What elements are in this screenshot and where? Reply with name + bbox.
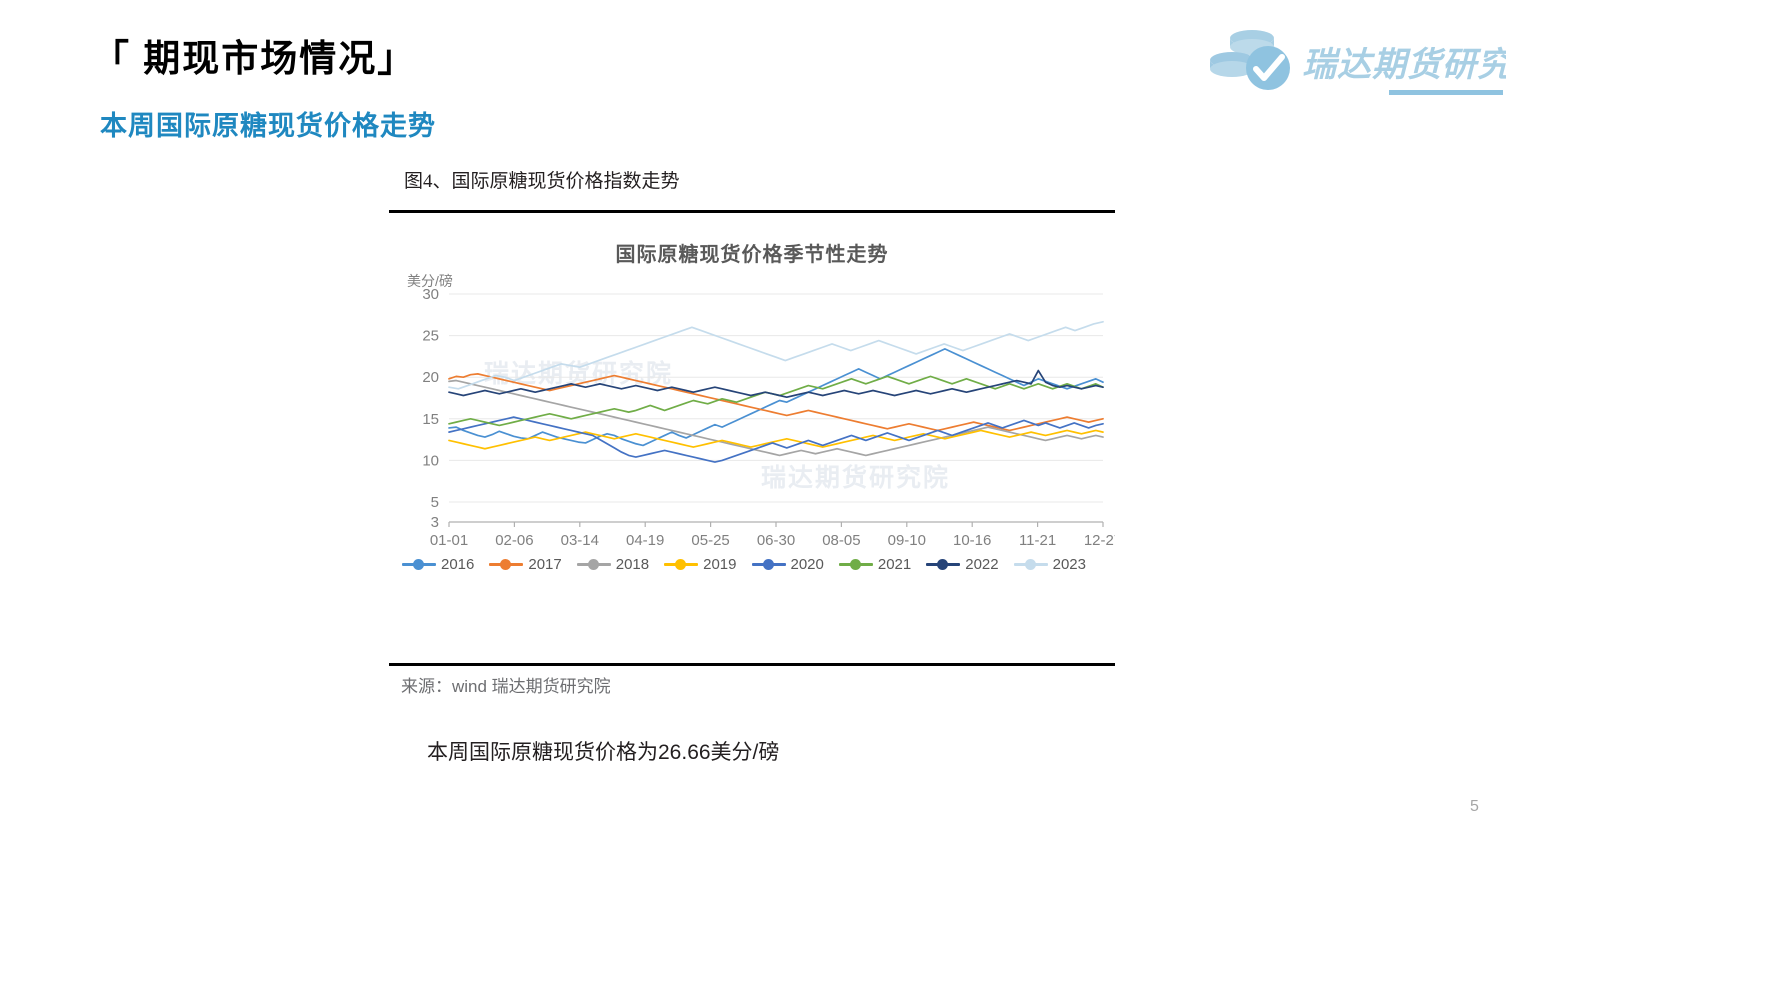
y-tick-label: 30 [422,286,439,303]
page-number: 5 [1470,798,1479,816]
legend-item-2021[interactable]: 2021 [839,551,911,577]
legend-label: 2017 [528,556,561,573]
coins-check-icon: 瑞达期货研究院 [1206,24,1506,102]
y-tick-label: 15 [422,411,439,428]
x-tick-label: 04-19 [626,532,664,549]
legend-marker-icon [489,558,523,570]
chart-legend: 20162017201820192020202120222023 [402,551,1102,577]
y-tick-label: 20 [422,369,439,386]
legend-item-2017[interactable]: 2017 [489,551,561,577]
legend-item-2023[interactable]: 2023 [1014,551,1086,577]
legend-label: 2022 [965,556,998,573]
series-line-2022 [449,371,1103,398]
legend-marker-icon [1014,558,1048,570]
legend-marker-icon [926,558,960,570]
legend-label: 2021 [878,556,911,573]
y-tick-label: 10 [422,452,439,469]
y-tick-label: 25 [422,328,439,345]
legend-label: 2016 [441,556,474,573]
legend-item-2018[interactable]: 2018 [577,551,649,577]
legend-marker-icon [664,558,698,570]
legend-label: 2019 [703,556,736,573]
x-tick-label: 02-06 [495,532,533,549]
y-tick-label: 5 [431,494,439,511]
legend-item-2019[interactable]: 2019 [664,551,736,577]
x-tick-label: 12-27 [1084,532,1115,549]
chart-plot: 30252015105301-0102-0603-1404-1905-2506-… [389,226,1115,556]
legend-marker-icon [839,558,873,570]
x-tick-label: 05-25 [691,532,729,549]
x-tick-label: 11-21 [1019,532,1056,549]
source-note: 来源：wind 瑞达期货研究院 [401,672,611,697]
legend-label: 2018 [616,556,649,573]
legend-item-2016[interactable]: 2016 [402,551,474,577]
section-title: 本周国际原糖现货价格走势 [100,104,436,143]
summary-text: 本周国际原糖现货价格为26.66美分/磅 [427,736,779,766]
chart-container: 国际原糖现货价格季节性走势 美分/磅 瑞达期货研究院 瑞达期货研究院 30252… [389,226,1115,616]
logo-text: 瑞达期货研究院 [1302,46,1506,84]
legend-marker-icon [577,558,611,570]
legend-marker-icon [752,558,786,570]
x-tick-label: 01-01 [430,532,468,549]
company-logo: 瑞达期货研究院 [1206,24,1506,102]
x-tick-label: 10-16 [953,532,991,549]
x-tick-label: 08-05 [822,532,860,549]
page-title: 「 期现市场情况」 [92,28,416,82]
x-tick-label: 06-30 [757,532,795,549]
y-tick-label: 3 [431,514,439,531]
legend-label: 2020 [791,556,824,573]
legend-item-2020[interactable]: 2020 [752,551,824,577]
x-tick-label: 09-10 [888,532,926,549]
legend-marker-icon [402,558,436,570]
divider-bottom [389,663,1115,666]
slide-canvas: 「 期现市场情况」 本周国际原糖现货价格走势 瑞达期货研究院 图4、国际原糖现货… [0,0,1778,1000]
series-line-2023 [449,322,1103,389]
divider-top [389,210,1115,213]
figure-caption: 图4、国际原糖现货价格指数走势 [404,166,680,193]
x-tick-label: 03-14 [561,532,599,549]
legend-item-2022[interactable]: 2022 [926,551,998,577]
legend-label: 2023 [1053,556,1086,573]
